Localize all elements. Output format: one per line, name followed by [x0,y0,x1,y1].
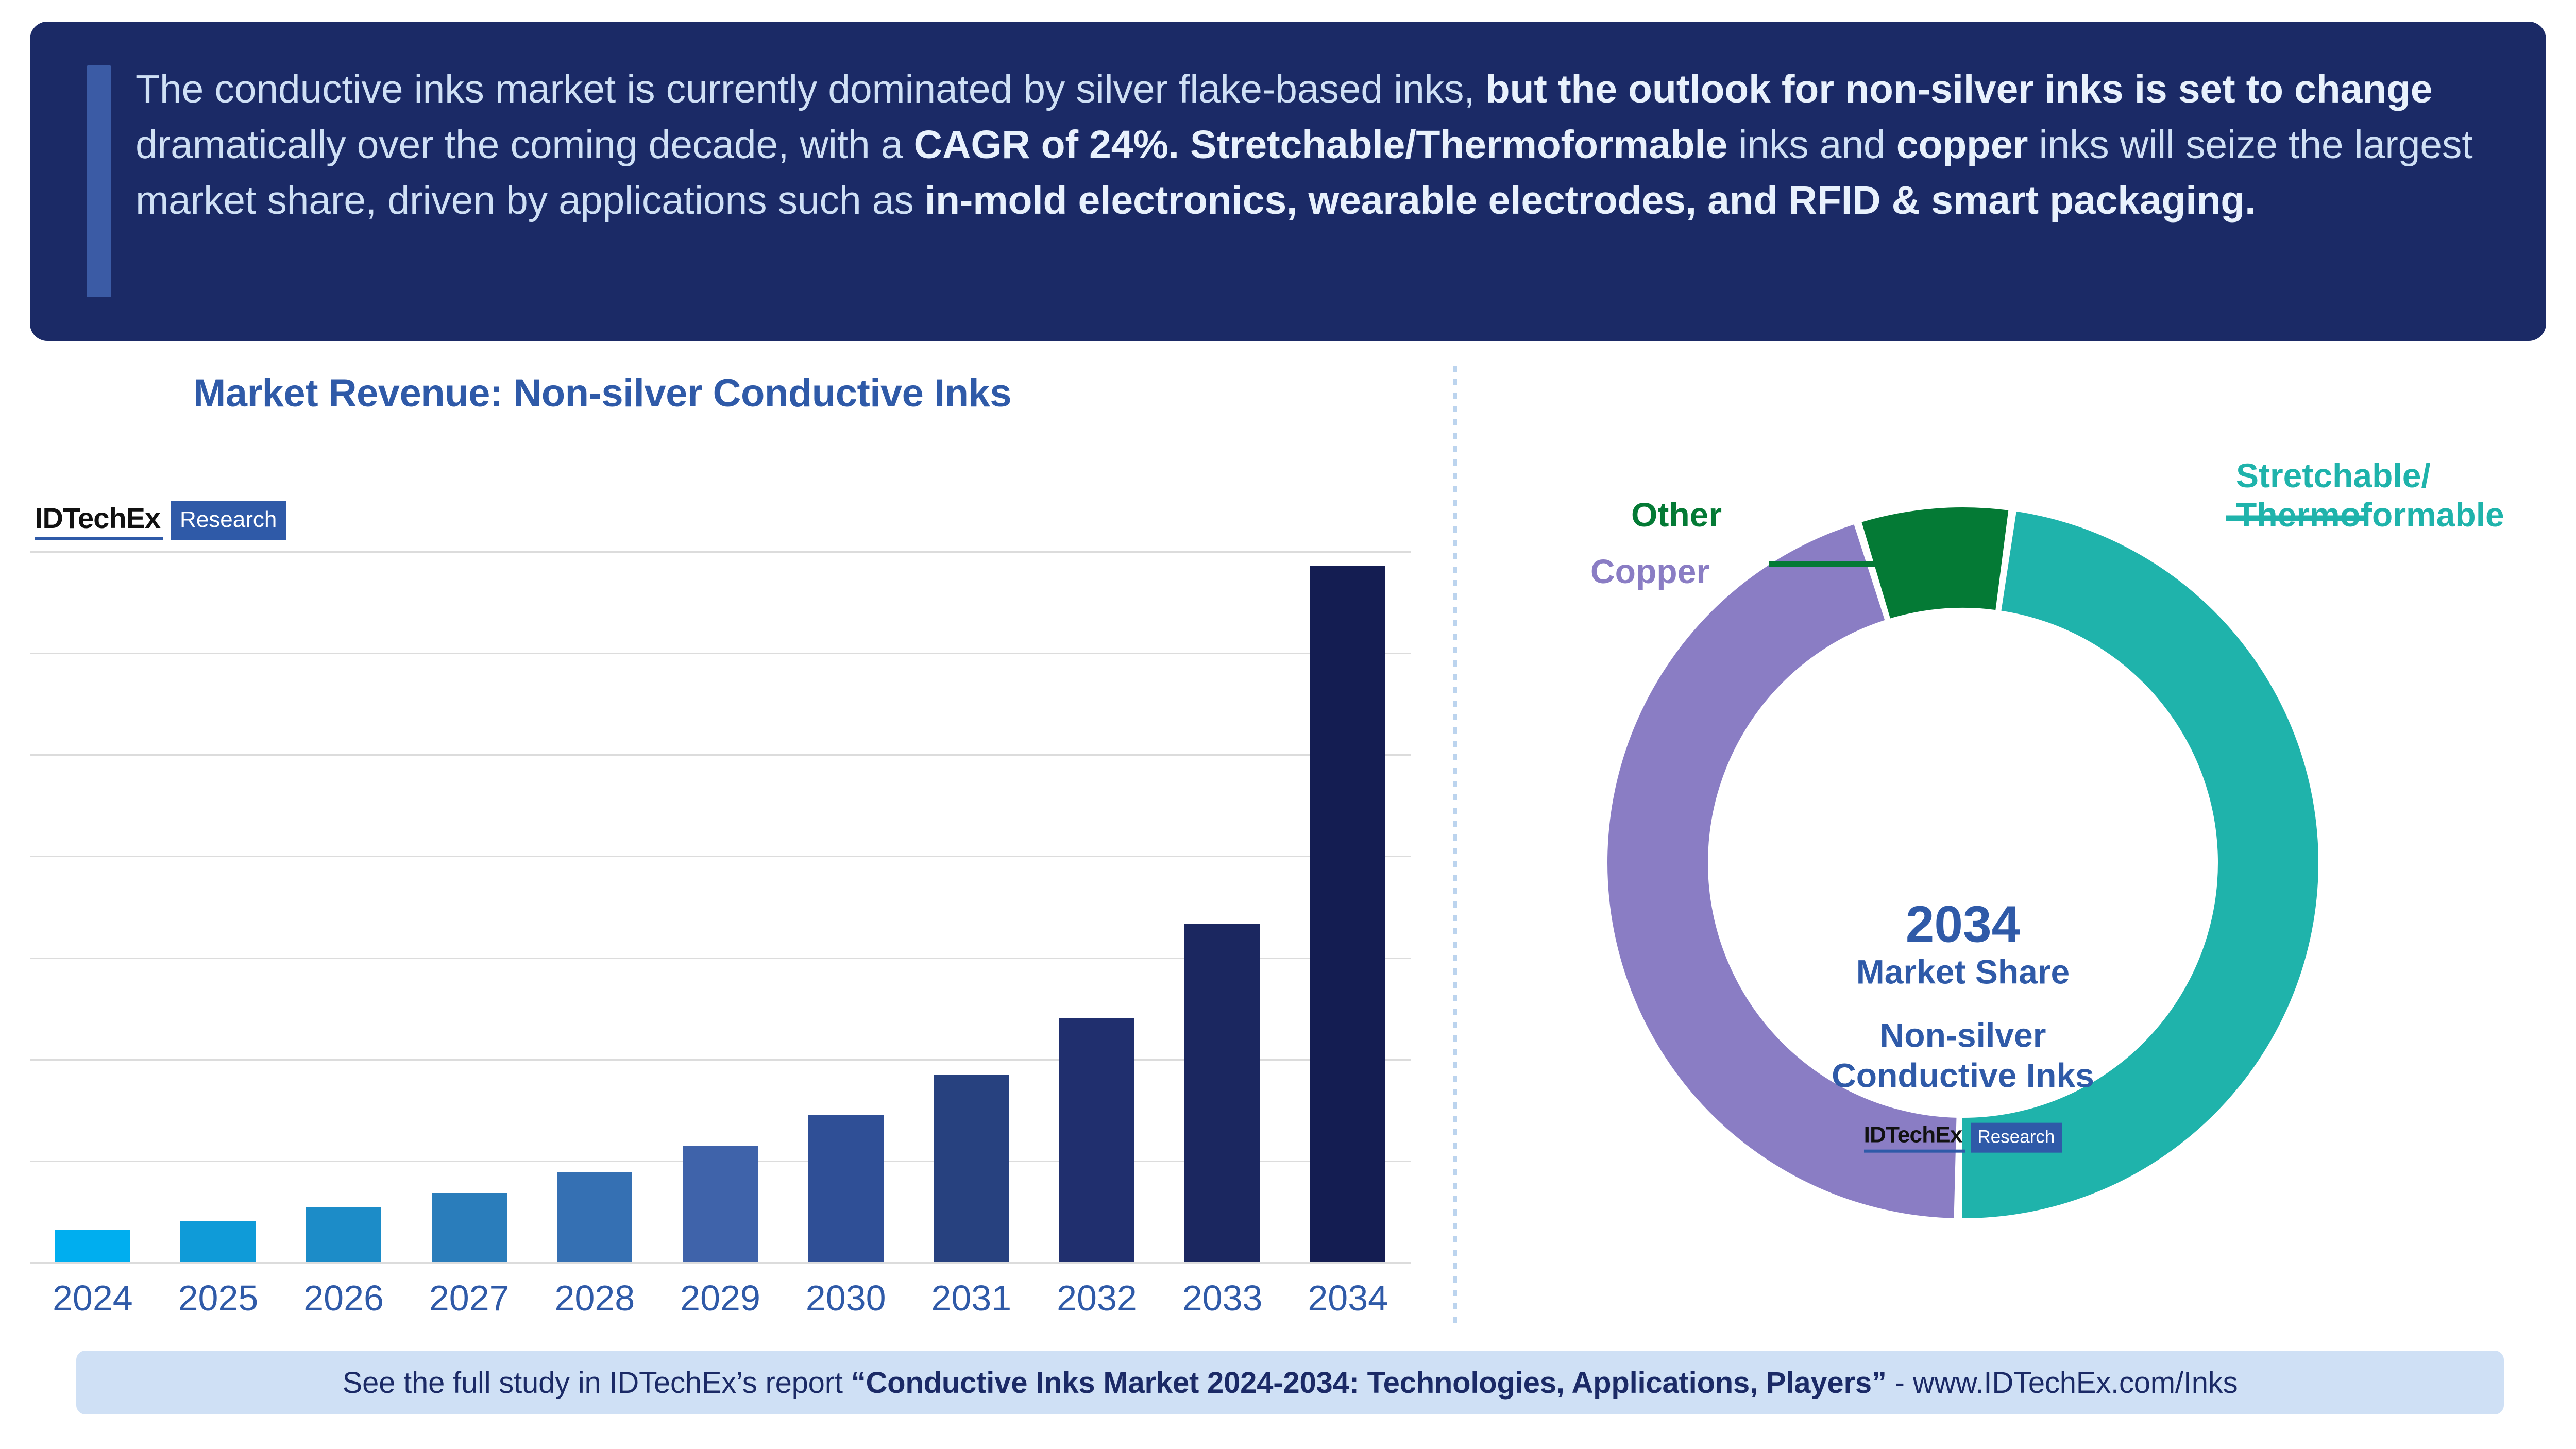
donut-label-copper: Copper [1590,552,1709,591]
bar-gridline [30,754,1411,756]
header-text-bold-3: copper [1896,123,2039,167]
bar-chart-title: Market Revenue: Non-silver Conductive In… [193,371,1327,416]
bar-plot-area [30,551,1411,1262]
header-text-normal-3: inks and [1738,123,1896,167]
footer-report-title: “Conductive Inks Market 2024-2034: Techn… [851,1366,1887,1400]
bar-gridline [30,551,1411,553]
footer-prefix: See the full study in IDTechEx’s report [343,1366,851,1400]
header-text-normal-1: The conductive inks market is currently … [135,67,1486,111]
bar-2029[interactable] [683,1146,758,1262]
idtechex-research-tag: Research [171,501,286,540]
bar-chart-panel: Market Revenue: Non-silver Conductive In… [0,355,1443,1329]
header-text-normal-2: dramatically over the coming decade, wit… [135,123,914,167]
header-text-bold-1: but the outlook for non-silver inks is s… [1486,67,2433,111]
header-statement: The conductive inks market is currently … [135,62,2536,228]
x-axis-label-2030: 2030 [783,1277,909,1324]
x-axis-label-2031: 2031 [908,1277,1034,1324]
bar-2034[interactable] [1310,566,1385,1262]
donut-label-stretchable-line2: Thermoformable [2236,496,2576,535]
donut-center-name: Non-silver Conductive Inks [1777,1016,2148,1096]
header-callout: The conductive inks market is currently … [30,22,2546,341]
header-accent-bar [87,65,111,297]
x-axis-label-2024: 2024 [30,1277,156,1324]
bar-2032[interactable] [1059,1018,1134,1262]
footer-text: See the full study in IDTechEx’s report … [343,1366,2238,1400]
x-axis-label-2027: 2027 [406,1277,532,1324]
idtechex-research-tag: Research [1971,1122,2062,1152]
donut-chart-panel: Stretchable/ Thermoformable Other Copper… [1443,355,2576,1329]
donut-center-name-line1: Non-silver [1777,1016,2148,1056]
x-axis-label-2032: 2032 [1034,1277,1160,1324]
idtechex-wordmark: IDTechEx [35,501,163,540]
bar-2028[interactable] [557,1172,632,1262]
footer-suffix: - www.IDTechEx.com/Inks [1887,1366,2238,1400]
bar-2030[interactable] [808,1115,884,1262]
donut-center-subtitle: Market Share [1777,953,2148,992]
bar-2033[interactable] [1184,924,1260,1262]
x-axis-label-2026: 2026 [281,1277,406,1324]
header-text-bold-2: CAGR of 24%. Stretchable/Thermoformable [914,123,1739,167]
x-axis-label-2025: 2025 [156,1277,281,1324]
bar-2024[interactable] [55,1230,130,1262]
donut-center-year: 2034 [1777,898,2148,952]
footer-callout: See the full study in IDTechEx’s report … [76,1351,2504,1414]
bar-2031[interactable] [934,1075,1009,1262]
bar-2025[interactable] [180,1221,256,1262]
donut-label-other: Other [1631,496,1722,535]
donut-label-stretchable: Stretchable/ Thermoformable [2236,456,2576,535]
idtechex-logo-donut: IDTechEx Research [1777,1122,2148,1152]
bar-gridline [30,856,1411,857]
header-text-bold-4: in-mold electronics, wearable electrodes… [925,178,2256,223]
bar-x-axis: 2024202520262027202820292030203120322033… [30,1277,1411,1324]
x-axis-label-2034: 2034 [1285,1277,1411,1324]
donut-center-text: 2034 Market Share Non-silver Conductive … [1777,898,2148,1153]
bar-gridline [30,653,1411,654]
bar-2026[interactable] [306,1207,381,1262]
x-axis-label-2029: 2029 [657,1277,783,1324]
x-axis-label-2028: 2028 [532,1277,658,1324]
x-axis-label-2033: 2033 [1160,1277,1285,1324]
bar-2027[interactable] [432,1193,507,1262]
donut-center-name-line2: Conductive Inks [1777,1055,2148,1096]
idtechex-wordmark: IDTechEx [1864,1122,1965,1152]
donut-label-stretchable-line1: Stretchable/ [2236,456,2576,496]
bar-gridline [30,1262,1411,1264]
idtechex-logo-bar: IDTechEx Research [35,501,286,540]
